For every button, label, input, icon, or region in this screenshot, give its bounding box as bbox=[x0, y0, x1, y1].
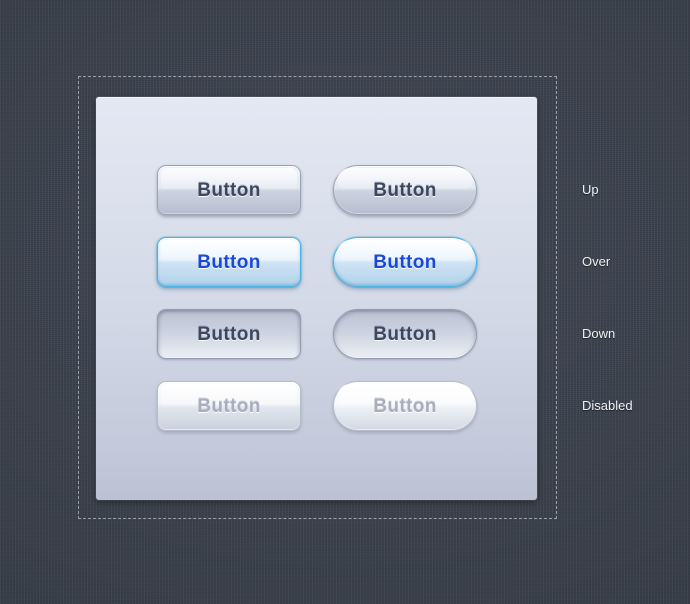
button-up-pill[interactable]: Button bbox=[333, 165, 477, 215]
button-down-rect[interactable]: Button bbox=[157, 309, 301, 359]
button-label: Button bbox=[373, 325, 437, 344]
button-row-disabled: Button Button bbox=[96, 381, 537, 433]
button-down-pill[interactable]: Button bbox=[333, 309, 477, 359]
button-row-up: Button Button bbox=[96, 165, 537, 217]
button-label: Button bbox=[197, 253, 261, 272]
button-label: Button bbox=[373, 181, 437, 200]
state-label-up: Up bbox=[582, 182, 599, 198]
state-label-down: Down bbox=[582, 326, 615, 342]
button-over-rect[interactable]: Button bbox=[157, 237, 301, 287]
button-label: Button bbox=[373, 397, 437, 416]
button-row-down: Button Button bbox=[96, 309, 537, 361]
button-disabled-rect: Button bbox=[157, 381, 301, 431]
button-label: Button bbox=[373, 253, 437, 272]
button-label: Button bbox=[197, 181, 261, 200]
button-disabled-pill: Button bbox=[333, 381, 477, 431]
button-row-over: Button Button bbox=[96, 237, 537, 289]
state-label-over: Over bbox=[582, 254, 610, 270]
state-label-disabled: Disabled bbox=[582, 398, 633, 414]
button-over-pill[interactable]: Button bbox=[333, 237, 477, 287]
button-label: Button bbox=[197, 397, 261, 416]
button-grid: Button Button Button Button Button bbox=[96, 97, 537, 500]
button-up-rect[interactable]: Button bbox=[157, 165, 301, 215]
state-label-column: Up Over Down Disabled bbox=[582, 97, 682, 500]
button-label: Button bbox=[197, 325, 261, 344]
button-showcase-panel: Button Button Button Button Button bbox=[96, 97, 537, 500]
